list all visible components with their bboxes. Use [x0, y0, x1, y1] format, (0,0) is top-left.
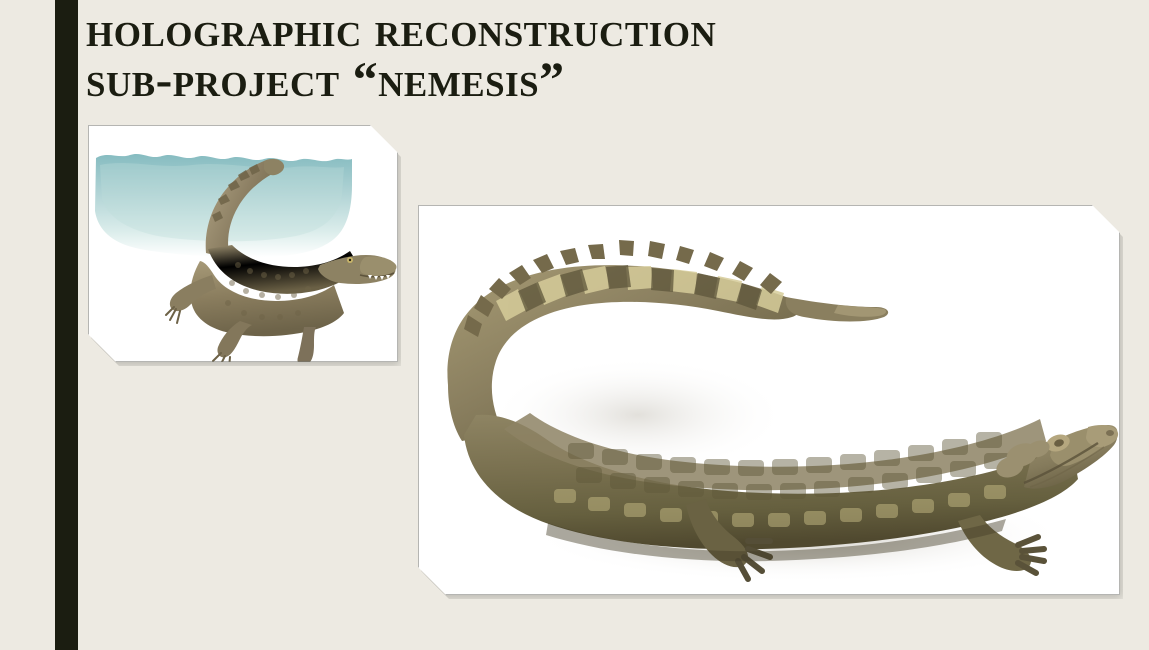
- crocodile-illustration-art: [88, 125, 398, 362]
- crocodile-illustration-frame[interactable]: [88, 125, 398, 362]
- crocodile-photo-frame[interactable]: [418, 205, 1120, 595]
- accent-bar: [55, 0, 78, 650]
- title-line-1: Holographic Reconstruction: [86, 4, 1106, 54]
- title-line-2: Sub-project “Nemesis”: [86, 54, 1106, 104]
- slide-canvas: Holographic Reconstruction Sub-project “…: [0, 0, 1149, 650]
- crocodile-photo-art: [418, 205, 1120, 595]
- slide-title: Holographic Reconstruction Sub-project “…: [86, 4, 1106, 104]
